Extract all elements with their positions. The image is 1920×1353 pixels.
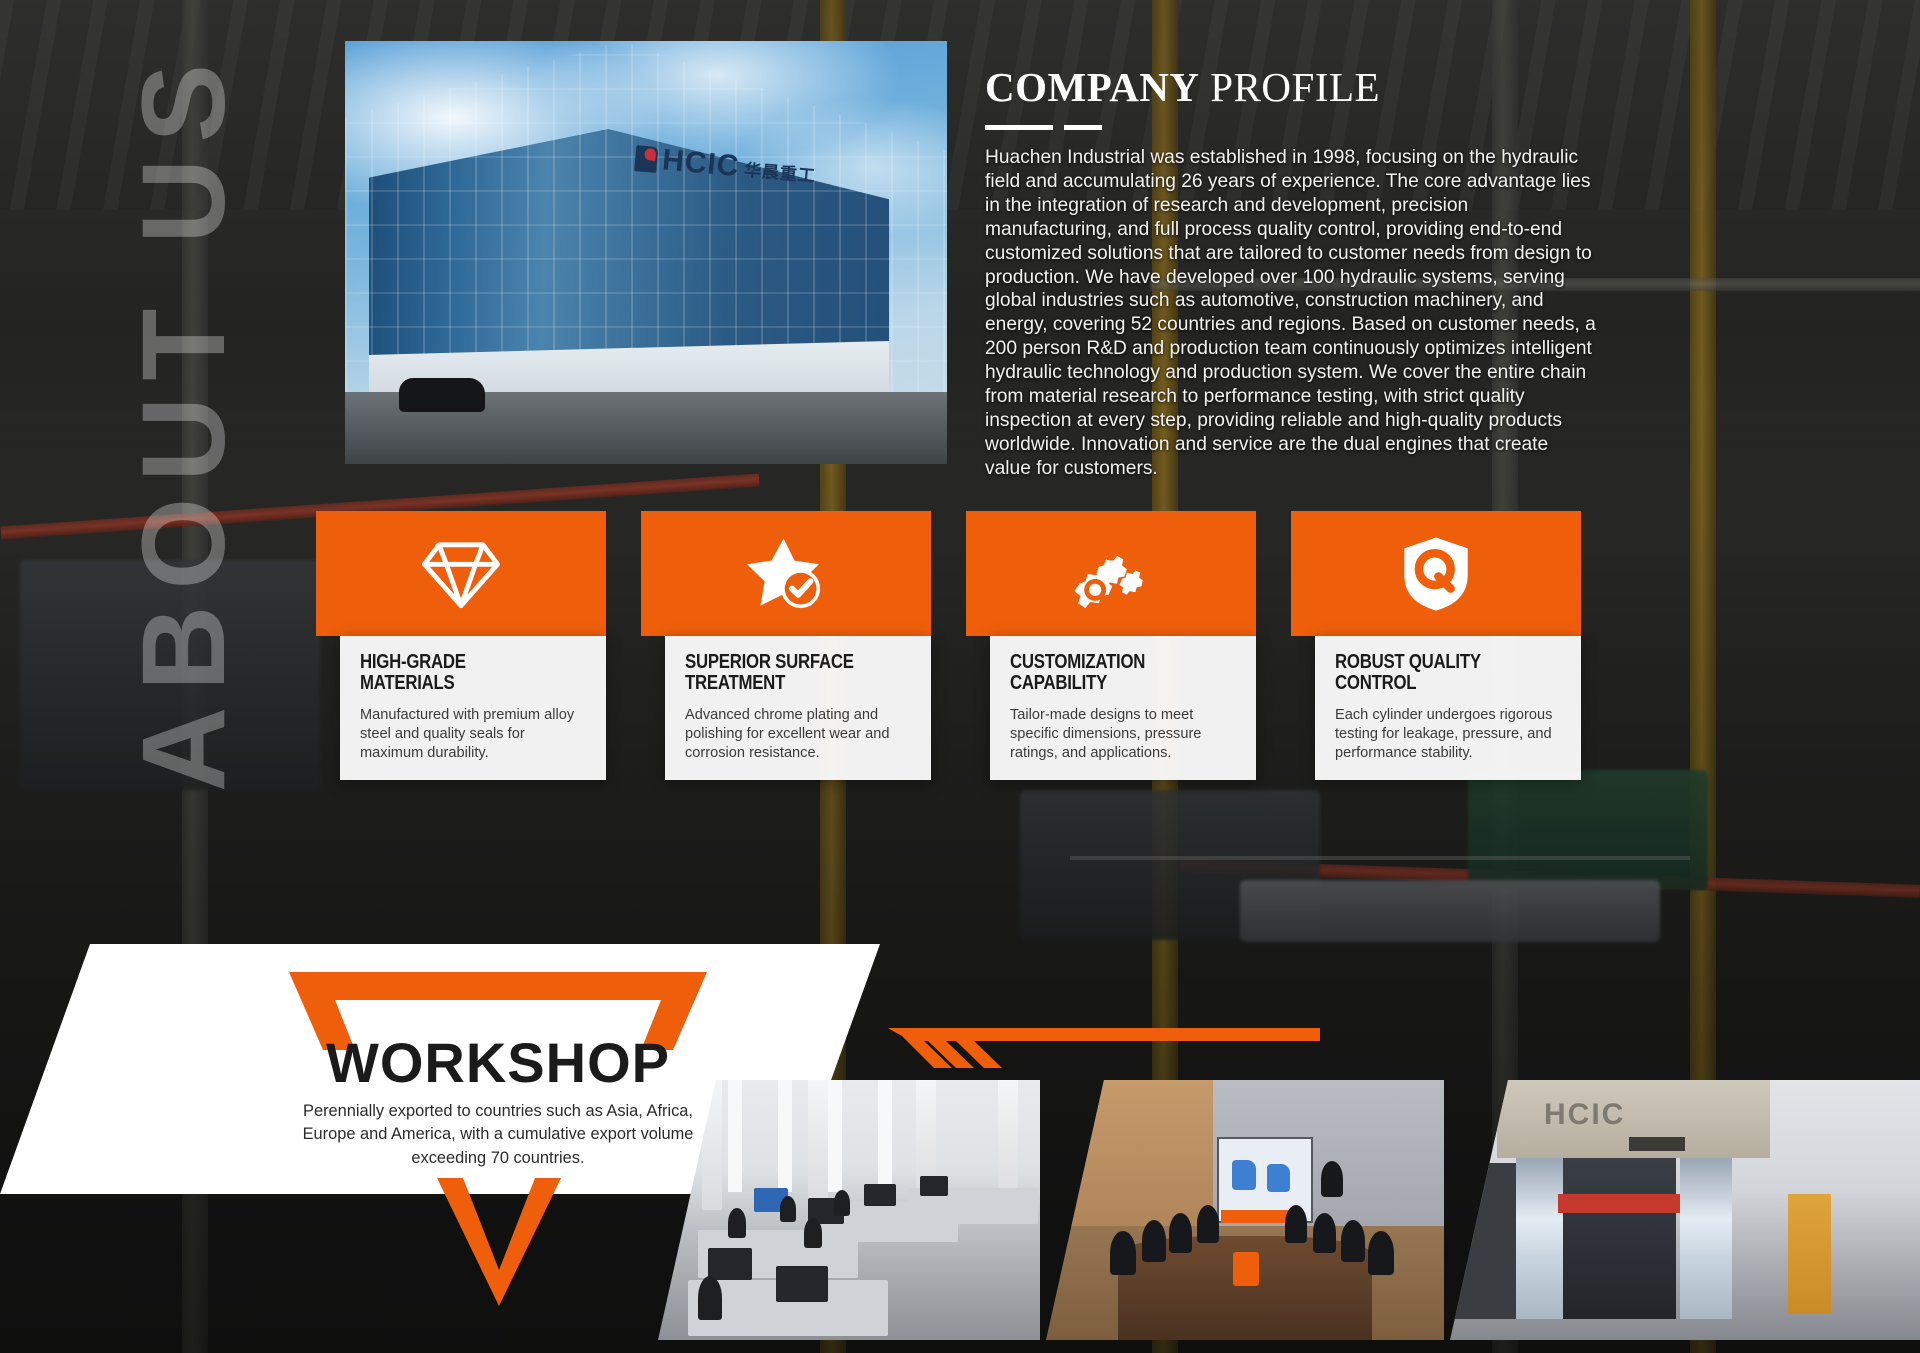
hcic-logo-text: HCIC <box>661 144 741 185</box>
card-title: ROBUST QUALITY CONTROL <box>1335 652 1527 693</box>
about-us-watermark: ABOUT US <box>116 40 252 800</box>
page-title-normal: PROFILE <box>1200 64 1381 110</box>
feature-card[interactable]: HIGH-GRADE MATERIALS Manufactured with p… <box>316 511 606 780</box>
meeting-photo-content <box>1046 1080 1444 1340</box>
card-description: Tailor-made designs to meet specific dim… <box>1010 706 1238 762</box>
office-photo-content <box>658 1080 1040 1340</box>
company-profile-block: COMPANY PROFILE Huachen Industrial was e… <box>985 66 1597 481</box>
feature-card-grid: HIGH-GRADE MATERIALS Manufactured with p… <box>316 511 1616 793</box>
page-title-bold: COMPANY <box>985 64 1200 110</box>
feature-card[interactable]: ROBUST QUALITY CONTROL Each cylinder und… <box>1291 511 1581 780</box>
profile-paragraph: Huachen Industrial was established in 19… <box>985 146 1597 481</box>
card-icon-header <box>316 511 606 636</box>
hcic-logo-chinese: 华晨重工 <box>743 155 817 186</box>
card-title: CUSTOMIZATION CAPABILITY <box>1010 652 1202 693</box>
diamond-icon <box>422 535 500 613</box>
card-body: SUPERIOR SURFACE TREATMENT Advanced chro… <box>665 636 931 780</box>
card-icon-header <box>1291 511 1581 636</box>
card-description: Each cylinder undergoes rigorous testing… <box>1335 706 1563 762</box>
gallery-photo-showroom[interactable]: HCIC <box>1450 1080 1920 1340</box>
arrow-down-icon <box>437 1178 561 1306</box>
rule-long <box>985 125 1053 130</box>
about-us-page: ABOUT US HCIC 华晨重工 COMPANY PROFILE Huach… <box>0 0 1920 1353</box>
card-body: ROBUST QUALITY CONTROL Each cylinder und… <box>1315 636 1581 780</box>
rule-short <box>1064 125 1102 130</box>
chevron-rule-decoration <box>888 1024 1320 1070</box>
showroom-photo-content: HCIC <box>1450 1080 1920 1340</box>
card-description: Manufactured with premium alloy steel an… <box>360 706 588 762</box>
workshop-title: WORKSHOP <box>289 1030 707 1095</box>
workshop-photo-strip: HCIC <box>648 1068 1920 1353</box>
gallery-photo-meeting[interactable] <box>1046 1080 1444 1340</box>
card-title: SUPERIOR SURFACE TREATMENT <box>685 652 877 693</box>
title-underline-rules <box>985 125 1597 130</box>
feature-card[interactable]: SUPERIOR SURFACE TREATMENT Advanced chro… <box>641 511 931 780</box>
workshop-arrow-decoration <box>437 1178 561 1306</box>
card-body: CUSTOMIZATION CAPABILITY Tailor-made des… <box>990 636 1256 780</box>
card-title: HIGH-GRADE MATERIALS <box>360 652 552 693</box>
card-icon-header <box>966 511 1256 636</box>
feature-card[interactable]: CUSTOMIZATION CAPABILITY Tailor-made des… <box>966 511 1256 780</box>
headquarters-building-photo: HCIC 华晨重工 <box>345 41 947 464</box>
card-body: HIGH-GRADE MATERIALS Manufactured with p… <box>340 636 606 780</box>
gallery-photo-office[interactable] <box>658 1080 1040 1340</box>
chevron-rule-icon <box>888 1024 1320 1070</box>
page-title: COMPANY PROFILE <box>985 66 1597 109</box>
showroom-sign-text: HCIC <box>1544 1098 1625 1132</box>
shield-q-icon <box>1397 535 1475 613</box>
star-check-icon <box>747 535 825 613</box>
gears-icon <box>1072 535 1150 613</box>
card-icon-header <box>641 511 931 636</box>
hcic-logo-mark <box>634 145 658 173</box>
parked-car <box>399 378 485 412</box>
card-description: Advanced chrome plating and polishing fo… <box>685 706 913 762</box>
